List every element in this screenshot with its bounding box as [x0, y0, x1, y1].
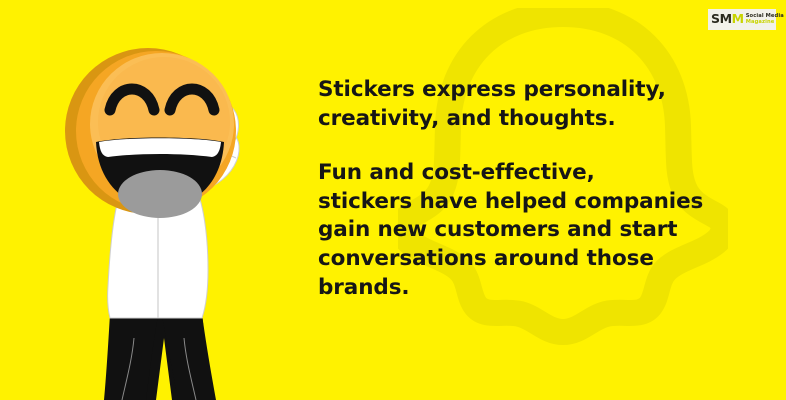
logo-letter-m1: M [720, 11, 732, 26]
logo-letter-s: S [711, 11, 720, 26]
logo-wordmark: SMM [711, 13, 744, 26]
paragraph-2: Fun and cost-effective, stickers have he… [318, 159, 718, 302]
logo-letter-m2: M [732, 11, 744, 26]
logo-tagline: Social Media Magazine [746, 14, 784, 25]
logo-tagline-line-2: Magazine [746, 20, 784, 25]
poster-canvas: SMM Social Media Magazine [0, 0, 786, 400]
smm-logo[interactable]: SMM Social Media Magazine [708, 9, 776, 30]
paragraph-1: Stickers express personality, creativity… [318, 76, 718, 133]
copy-block: Stickers express personality, creativity… [318, 76, 718, 302]
character-trousers [104, 314, 216, 400]
character-emoji-head [65, 48, 236, 218]
laughing-emoji-character-illustration [52, 38, 282, 400]
